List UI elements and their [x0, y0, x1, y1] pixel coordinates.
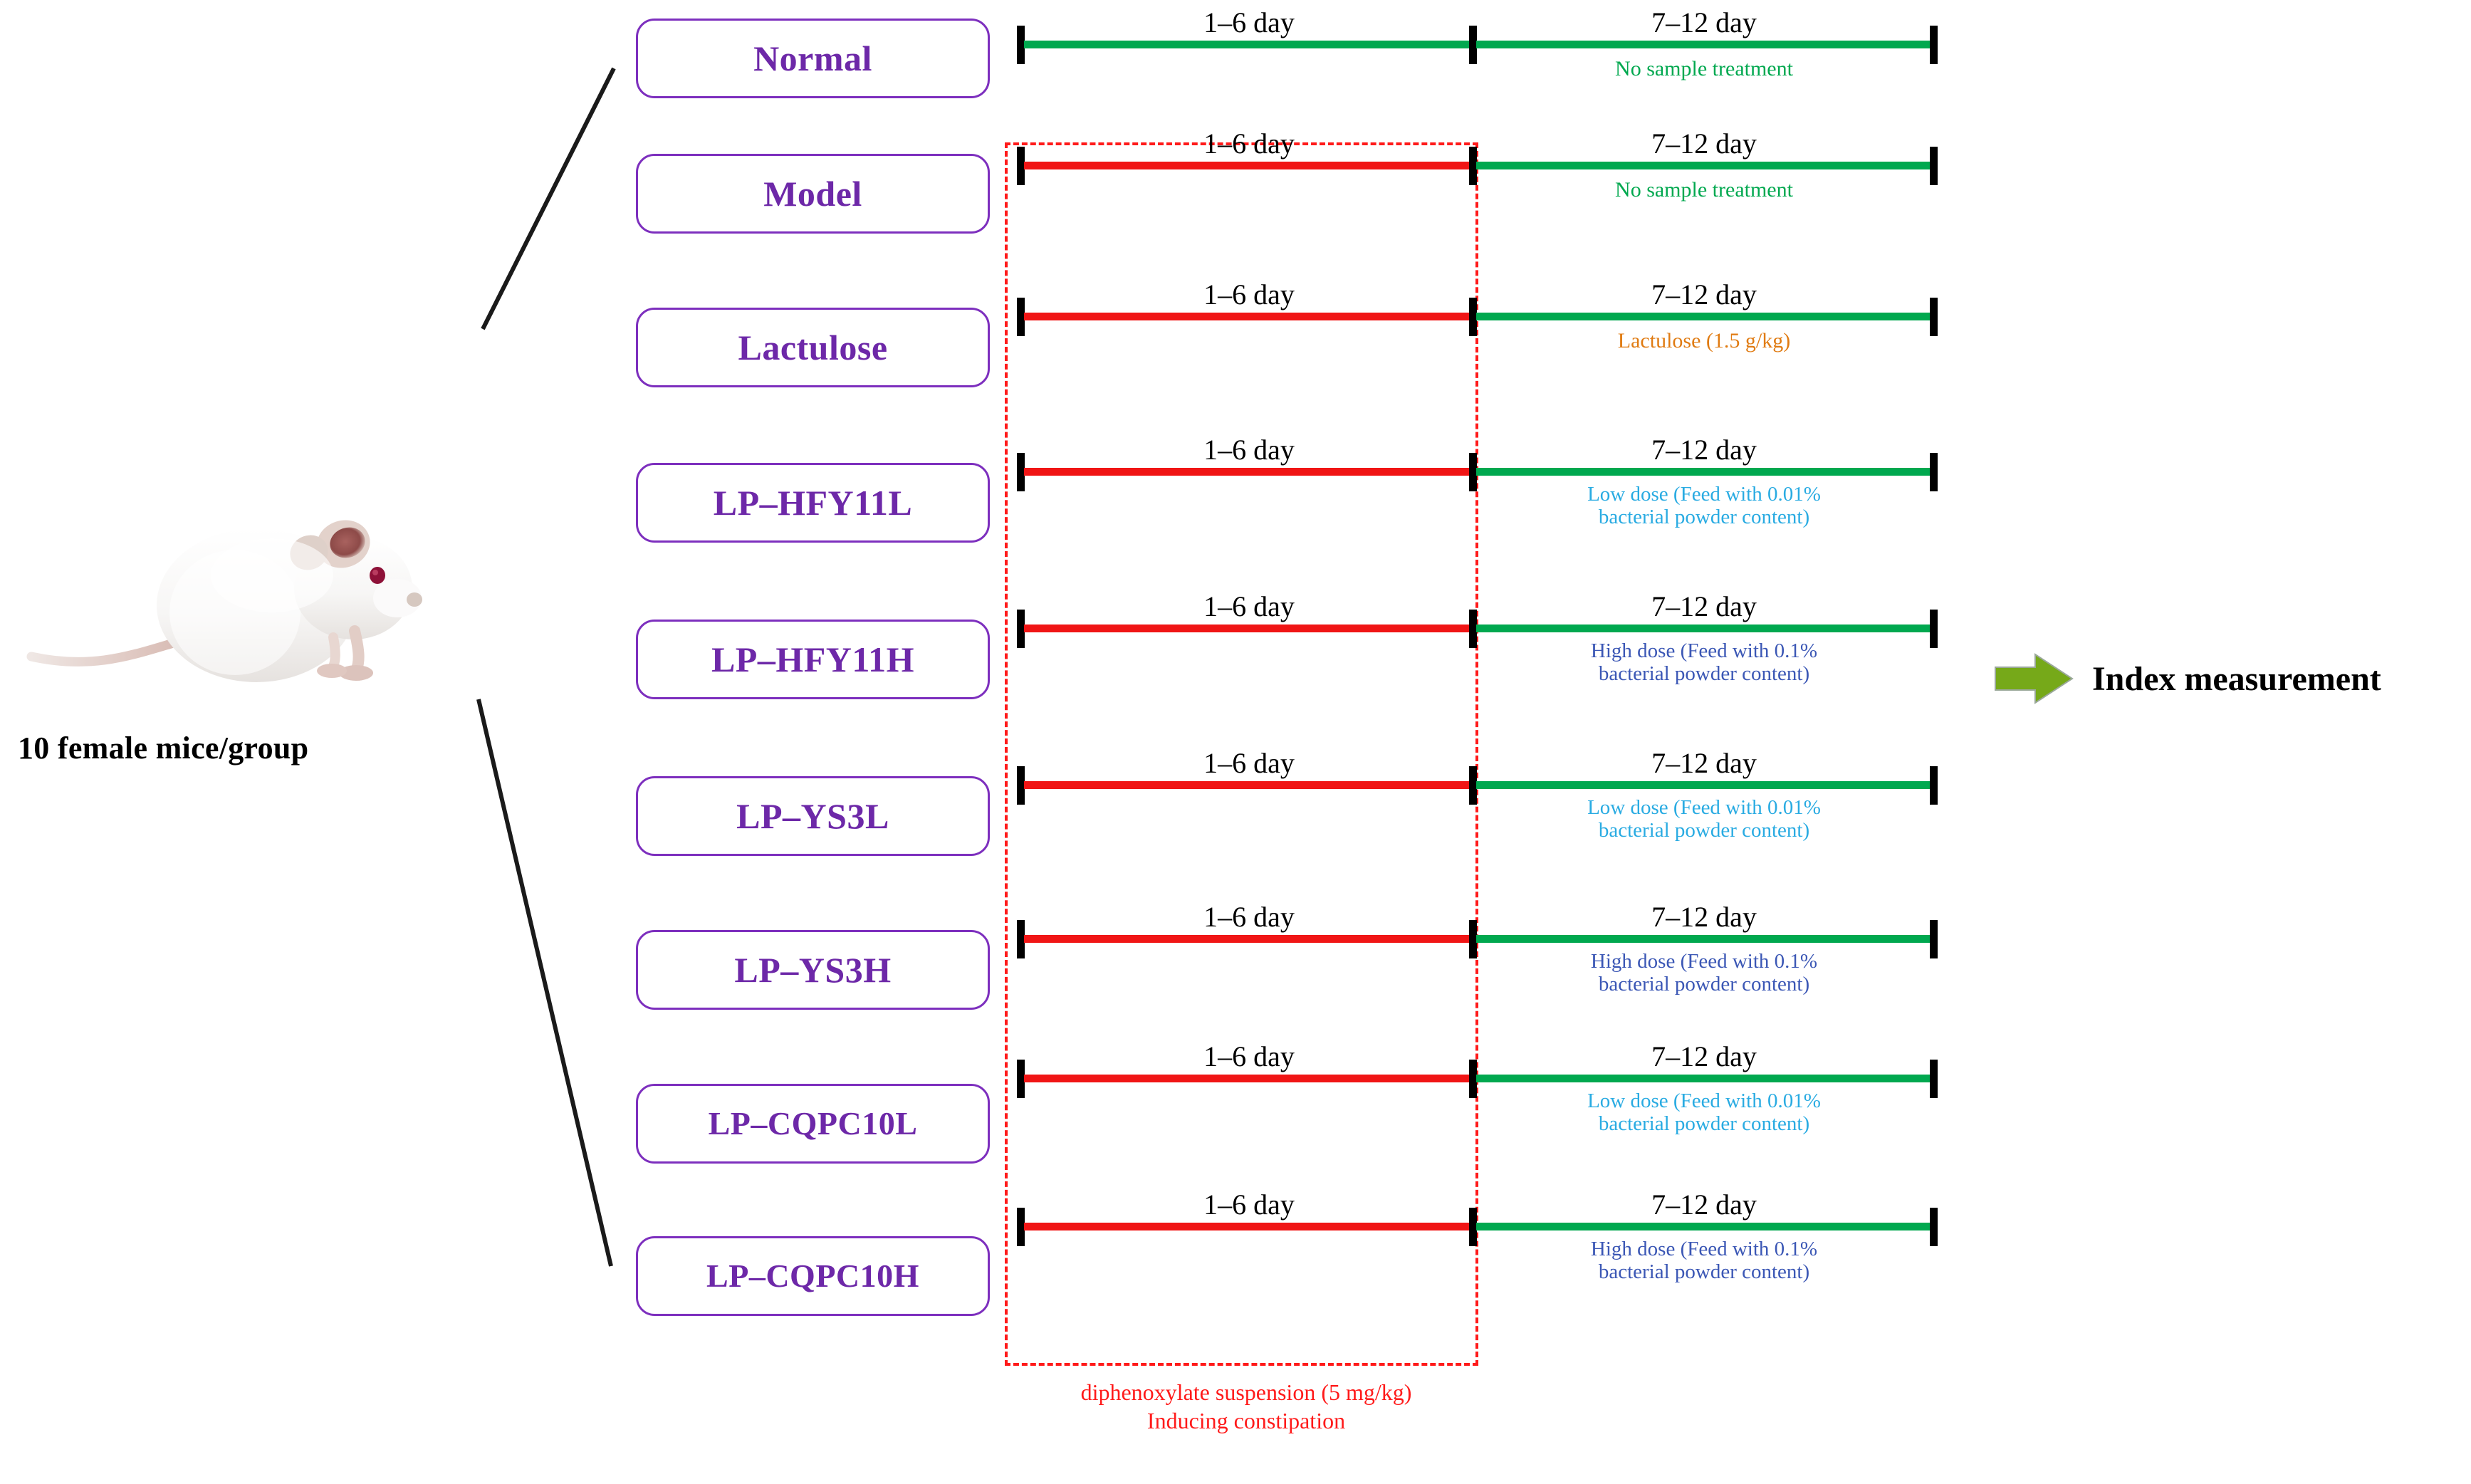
treatment-label: No sample treatment — [1476, 178, 1932, 202]
phase1-bar — [1024, 162, 1474, 169]
group-label: LP–CQPC10H — [706, 1260, 919, 1292]
group-box-lp-hfy11h[interactable]: LP–HFY11H — [636, 620, 990, 699]
treatment-line1: High dose (Feed with 0.1% — [1476, 639, 1932, 662]
phase1-bar — [1024, 1223, 1474, 1230]
treatment-line2: bacterial powder content) — [1476, 819, 1932, 842]
treatment-label: Low dose (Feed with 0.01% bacterial powd… — [1476, 1090, 1932, 1136]
group-box-lactulose[interactable]: Lactulose — [636, 308, 990, 387]
treatment-line2: bacterial powder content) — [1476, 1112, 1932, 1135]
treatment-line2: bacterial powder content) — [1476, 973, 1932, 996]
phase2-day-label: 7–12 day — [1476, 278, 1932, 311]
phase2-day-label: 7–12 day — [1476, 1040, 1932, 1073]
connector-line-bottom — [479, 699, 611, 1266]
treatment-line1: Low dose (Feed with 0.01% — [1476, 796, 1932, 819]
phase2-day-label: 7–12 day — [1476, 6, 1932, 39]
group-box-lp-ys3h[interactable]: LP–YS3H — [636, 930, 990, 1010]
experiment-design-diagram: 10 female mice/group diphenoxylate suspe… — [0, 0, 2471, 1484]
group-box-lp-cqpc10l[interactable]: LP–CQPC10L — [636, 1084, 990, 1164]
phase1-bar — [1024, 625, 1474, 632]
group-label: LP–YS3L — [736, 798, 889, 834]
phase2-bar — [1476, 313, 1932, 320]
treatment-line2: bacterial powder content) — [1476, 1260, 1932, 1283]
phase1-bar — [1024, 313, 1474, 320]
phase2-day-label: 7–12 day — [1476, 1188, 1932, 1221]
treatment-line1: High dose (Feed with 0.1% — [1476, 950, 1932, 973]
phase2-bar — [1476, 1223, 1932, 1230]
phase1-day-label: 1–6 day — [1024, 433, 1474, 466]
phase2-day-label: 7–12 day — [1476, 746, 1932, 780]
phase1-bar — [1024, 41, 1474, 48]
group-box-lp-hfy11l[interactable]: LP–HFY11L — [636, 463, 990, 543]
phase1-day-label: 1–6 day — [1024, 278, 1474, 311]
group-box-normal[interactable]: Normal — [636, 19, 990, 98]
phase1-bar — [1024, 468, 1474, 476]
laboratory-mouse-illustration — [21, 491, 463, 748]
phase1-day-label: 1–6 day — [1024, 1188, 1474, 1221]
treatment-line1: High dose (Feed with 0.1% — [1476, 1238, 1932, 1260]
phase1-day-label: 1–6 day — [1024, 1040, 1474, 1073]
group-label: LP–YS3H — [734, 952, 891, 988]
phase2-day-label: 7–12 day — [1476, 590, 1932, 623]
phase1-bar — [1024, 781, 1474, 789]
treatment-label: High dose (Feed with 0.1% bacterial powd… — [1476, 1238, 1932, 1284]
phase2-day-label: 7–12 day — [1476, 433, 1932, 466]
phase2-day-label: 7–12 day — [1476, 127, 1932, 160]
group-label: LP–HFY11H — [711, 642, 914, 677]
subject-caption: 10 female mice/group — [18, 730, 417, 766]
phase1-day-label: 1–6 day — [1024, 900, 1474, 934]
phase1-day-label: 1–6 day — [1024, 746, 1474, 780]
treatment-label: No sample treatment — [1476, 57, 1932, 81]
treatment-line1: Low dose (Feed with 0.01% — [1476, 1090, 1932, 1112]
phase2-bar — [1476, 625, 1932, 632]
phase2-bar — [1476, 468, 1932, 476]
index-measurement-label: Index measurement — [2092, 659, 2381, 699]
phase2-bar — [1476, 41, 1932, 48]
group-label: Model — [763, 176, 862, 211]
phase1-bar — [1024, 1075, 1474, 1082]
index-measurement-block: Index measurement — [1994, 652, 2381, 706]
phase1-day-label: 1–6 day — [1024, 6, 1474, 39]
treatment-label: High dose (Feed with 0.1% bacterial powd… — [1476, 950, 1932, 996]
phase2-bar — [1476, 1075, 1932, 1082]
treatment-line2: bacterial powder content) — [1476, 506, 1932, 528]
phase2-bar — [1476, 781, 1932, 789]
group-label: LP–CQPC10L — [709, 1107, 918, 1140]
group-box-model[interactable]: Model — [636, 154, 990, 234]
treatment-label: Low dose (Feed with 0.01% bacterial powd… — [1476, 796, 1932, 842]
treatment-label: Lactulose (1.5 g/kg) — [1476, 329, 1932, 353]
phase1-day-label: 1–6 day — [1024, 590, 1474, 623]
induction-caption-line2: Inducing constipation — [933, 1406, 1560, 1435]
phase2-bar — [1476, 162, 1932, 169]
right-block-arrow-icon — [1994, 652, 2074, 706]
induction-caption-line1: diphenoxylate suspension (5 mg/kg) — [933, 1378, 1560, 1406]
treatment-line1: Low dose (Feed with 0.01% — [1476, 483, 1932, 506]
treatment-line2: bacterial powder content) — [1476, 662, 1932, 685]
group-label: LP–HFY11L — [714, 485, 913, 521]
group-box-lp-cqpc10h[interactable]: LP–CQPC10H — [636, 1236, 990, 1316]
group-label: Normal — [753, 41, 872, 76]
treatment-label: Low dose (Feed with 0.01% bacterial powd… — [1476, 483, 1932, 529]
group-label: Lactulose — [738, 330, 887, 365]
phase2-day-label: 7–12 day — [1476, 900, 1932, 934]
mouse-icon — [21, 491, 463, 748]
phase2-bar — [1476, 935, 1932, 943]
treatment-label: High dose (Feed with 0.1% bacterial powd… — [1476, 639, 1932, 686]
group-box-lp-ys3l[interactable]: LP–YS3L — [636, 776, 990, 856]
phase1-bar — [1024, 935, 1474, 943]
induction-caption: diphenoxylate suspension (5 mg/kg) Induc… — [933, 1378, 1560, 1436]
connector-line-top — [483, 68, 614, 329]
phase1-day-label: 1–6 day — [1024, 127, 1474, 160]
